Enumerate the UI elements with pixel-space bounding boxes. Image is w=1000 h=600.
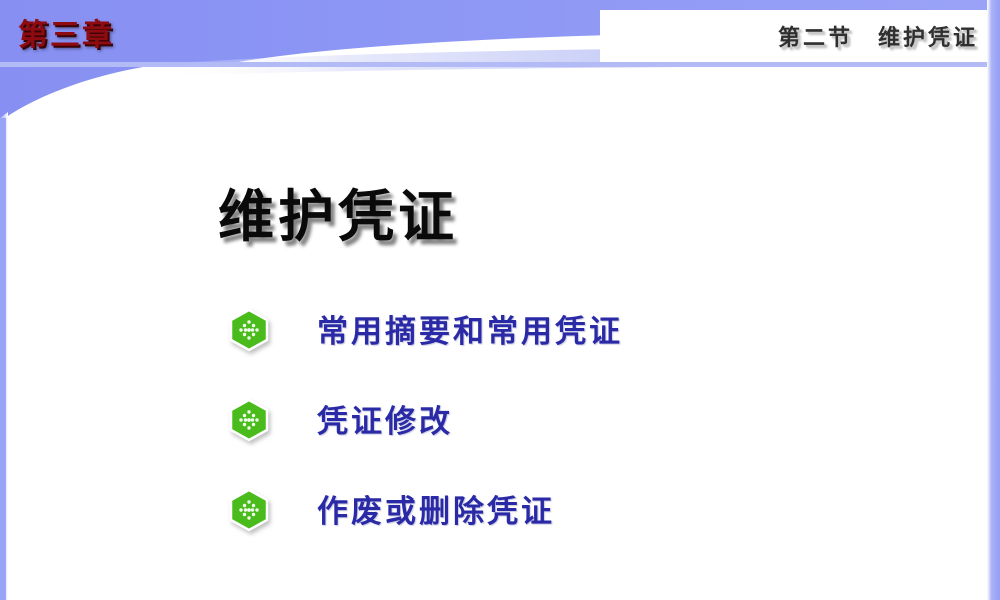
green-hexagon-bullet-icon xyxy=(227,488,271,532)
left-edge-strip xyxy=(0,112,8,600)
list-item[interactable]: 凭证修改 xyxy=(225,373,965,463)
bullet-label: 凭证修改 xyxy=(317,396,453,441)
bullet-label: 常用摘要和常用凭证 xyxy=(317,306,623,351)
header-rule xyxy=(0,62,988,67)
green-hexagon-bullet-icon xyxy=(227,308,271,352)
green-hexagon-bullet-icon xyxy=(227,398,271,442)
slide-canvas: 第三章 第二节 维护凭证 维护凭证 xyxy=(0,0,1000,600)
right-edge-strip xyxy=(987,0,1000,600)
list-item[interactable]: 作废或删除凭证 xyxy=(225,463,965,553)
bullet-label: 作废或删除凭证 xyxy=(317,486,555,531)
bullet-marker xyxy=(225,396,273,440)
section-label: 第二节 维护凭证 xyxy=(778,20,978,52)
bullet-marker xyxy=(225,486,273,530)
left-edge-strip-core xyxy=(0,118,6,600)
chapter-label: 第三章 xyxy=(18,10,114,54)
bullet-marker xyxy=(225,306,273,350)
bullet-list: 常用摘要和常用凭证 xyxy=(225,283,965,553)
header-blue-swoosh xyxy=(0,0,1000,122)
list-item[interactable]: 常用摘要和常用凭证 xyxy=(225,283,965,373)
page-title: 维护凭证 xyxy=(218,172,458,253)
